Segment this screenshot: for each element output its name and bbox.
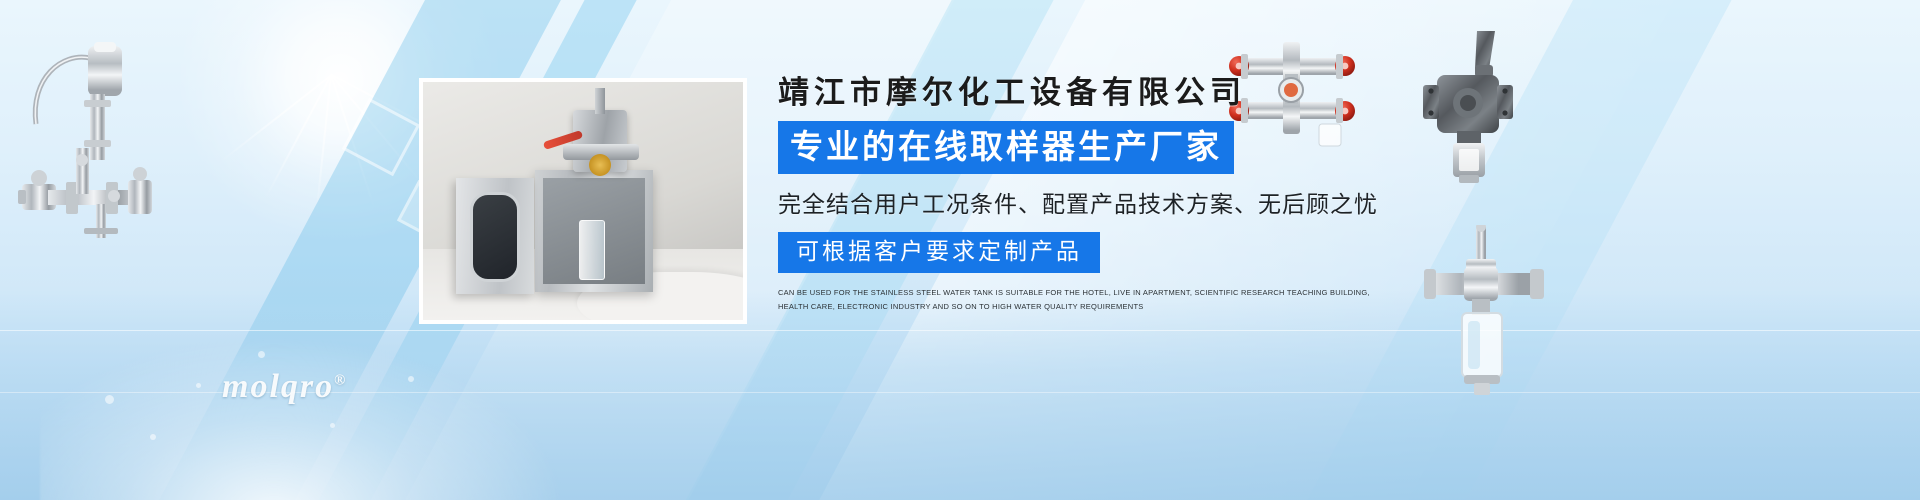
bubble-icon [258, 351, 265, 358]
sun-ray-icon [315, 75, 332, 214]
bubble-icon [150, 434, 156, 440]
sun-ray-icon [220, 75, 332, 163]
photo-seal-ring [589, 154, 611, 176]
photo-valve-stem [595, 88, 605, 114]
bubble-icon [105, 395, 114, 404]
sampler-cabinet-photo [419, 78, 747, 324]
headline-highlight: 专业的在线取样器生产厂家 [778, 121, 1234, 174]
banner-copy: 靖江市摩尔化工设备有限公司 专业的在线取样器生产厂家 完全结合用户工况条件、配置… [778, 74, 1398, 314]
company-name: 靖江市摩尔化工设备有限公司 [778, 74, 1398, 111]
brand-watermark: molqro® [222, 368, 347, 406]
sun-ray-icon [330, 74, 422, 183]
photo-door-window [470, 192, 520, 282]
photo-cabinet-interior [543, 178, 645, 284]
photo-sample-bottle [579, 220, 605, 280]
sun-ray-icon [264, 75, 331, 200]
water-splash-icon [40, 340, 560, 500]
top-right-valve-icon [1415, 25, 1530, 195]
watermark-text: molqro [222, 368, 334, 405]
bubble-icon [408, 376, 414, 382]
registered-mark: ® [334, 373, 347, 389]
bubble-icon [330, 423, 335, 428]
left-sampler-assembly-icon [10, 28, 160, 238]
custom-product-badge: 可根据客户要求定制产品 [778, 232, 1100, 273]
bottom-right-valve-icon [1420, 225, 1550, 400]
bubble-icon [196, 383, 201, 388]
sun-ray-icon [330, 74, 375, 208]
headline-row: 专业的在线取样器生产厂家 [778, 121, 1398, 174]
horizon-line [0, 330, 1920, 331]
chevron-outline-icon [342, 98, 420, 176]
english-caption: CAN BE USED FOR THE STAINLESS STEEL WATE… [778, 286, 1378, 314]
photo-cabinet [535, 170, 653, 292]
sub-headline: 完全结合用户工况条件、配置产品技术方案、无后顾之忧 [778, 185, 1398, 219]
photo-cabinet-door [456, 178, 534, 294]
promotional-banner: 靖江市摩尔化工设备有限公司 专业的在线取样器生产厂家 完全结合用户工况条件、配置… [0, 0, 1920, 500]
badge-row: 可根据客户要求定制产品 [778, 232, 1398, 273]
